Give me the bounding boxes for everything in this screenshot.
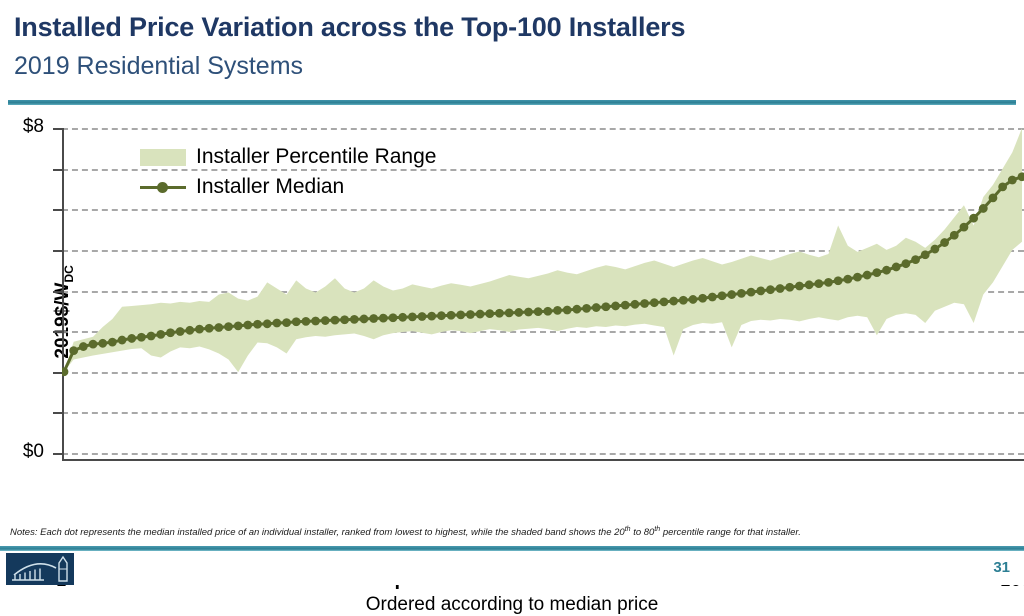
median-point	[282, 318, 291, 327]
median-point	[718, 291, 727, 300]
median-point	[950, 231, 959, 240]
median-point	[89, 340, 98, 349]
median-point	[350, 315, 359, 324]
median-point	[456, 310, 465, 319]
median-point	[960, 223, 969, 232]
notes-text-3: percentile range for that installer.	[660, 527, 801, 538]
median-point	[592, 303, 601, 312]
median-point	[272, 319, 281, 328]
median-point	[447, 311, 456, 320]
berkeley-lab-logo-icon	[6, 553, 74, 585]
median-point	[389, 313, 398, 322]
median-point	[331, 316, 340, 325]
median-point	[340, 315, 349, 324]
median-point	[360, 315, 369, 324]
median-point	[679, 296, 688, 305]
median-point	[572, 305, 581, 314]
median-point	[747, 288, 756, 297]
median-point	[311, 317, 320, 326]
slide-footer: 31	[0, 551, 1024, 585]
median-point	[931, 245, 940, 254]
median-point	[979, 204, 988, 213]
median-point	[834, 276, 843, 285]
median-point	[989, 193, 998, 202]
median-point	[398, 313, 407, 322]
median-point	[824, 278, 833, 287]
chart-legend: Installer Percentile Range Installer Med…	[140, 142, 436, 202]
median-point	[911, 255, 920, 264]
median-point	[921, 250, 930, 259]
median-point	[514, 308, 523, 317]
median-point	[602, 302, 611, 311]
legend-label-median: Installer Median	[196, 175, 344, 199]
median-point	[737, 289, 746, 298]
median-point	[166, 328, 175, 337]
median-point	[853, 273, 862, 282]
median-point	[418, 312, 427, 321]
median-point	[814, 279, 823, 288]
median-point	[156, 330, 165, 339]
median-point	[379, 314, 388, 323]
median-point	[708, 293, 717, 302]
median-point	[553, 306, 562, 315]
median-point	[137, 333, 146, 342]
median-point	[892, 263, 901, 272]
median-point	[882, 266, 891, 275]
median-point	[214, 323, 223, 332]
slide: Installed Price Variation across the Top…	[0, 0, 1024, 585]
median-point	[698, 294, 707, 303]
median-point	[79, 342, 88, 351]
chart-notes: Notes: Each dot represents the median in…	[10, 526, 1016, 538]
page-number: 31	[993, 559, 1010, 576]
median-point	[727, 290, 736, 299]
median-point	[127, 334, 136, 343]
median-point	[253, 320, 262, 329]
median-point	[466, 310, 475, 319]
chart-container: 2019$/WDC $8 $0 Installer Percentile Ran…	[0, 108, 1024, 518]
x-axis-subtitle: Ordered according to median price	[0, 594, 1024, 616]
median-point	[185, 326, 194, 335]
notes-text-1: Each dot represents the median installed…	[37, 527, 624, 538]
median-point	[302, 317, 311, 326]
median-point	[872, 268, 881, 277]
band-swatch-icon	[140, 149, 186, 166]
median-point	[611, 302, 620, 311]
median-point	[631, 300, 640, 309]
median-point	[147, 332, 156, 341]
median-point	[660, 297, 669, 306]
median-point	[1008, 176, 1017, 185]
legend-item-band: Installer Percentile Range	[140, 142, 436, 172]
median-point	[98, 339, 107, 348]
median-point	[476, 310, 485, 319]
median-point	[766, 285, 775, 294]
median-point	[524, 308, 533, 317]
legend-label-band: Installer Percentile Range	[196, 145, 436, 169]
median-point	[843, 275, 852, 284]
median-point	[621, 301, 630, 310]
median-point	[243, 321, 252, 330]
median-point	[263, 319, 272, 328]
page-title: Installed Price Variation across the Top…	[14, 12, 685, 43]
median-point	[427, 312, 436, 321]
header-divider	[8, 100, 1016, 105]
median-point	[640, 299, 649, 308]
median-point	[234, 321, 243, 330]
median-point	[582, 304, 591, 313]
median-point	[543, 307, 552, 316]
median-point	[195, 325, 204, 334]
median-point	[795, 282, 804, 291]
median-point	[292, 317, 301, 326]
plot-area: Installer Percentile Range Installer Med…	[62, 120, 1024, 461]
median-point	[108, 338, 117, 347]
legend-item-median: Installer Median	[140, 172, 436, 202]
median-point	[689, 295, 698, 304]
median-point	[485, 309, 494, 318]
median-point	[408, 313, 417, 322]
median-point	[224, 322, 233, 331]
median-point	[62, 367, 68, 376]
slide-header: Installed Price Variation across the Top…	[0, 0, 1024, 100]
page-subtitle: 2019 Residential Systems	[14, 52, 303, 81]
median-point	[776, 284, 785, 293]
median-point	[863, 271, 872, 280]
median-point	[437, 311, 446, 320]
notes-prefix: Notes:	[10, 527, 37, 538]
notes-text-2: to 80	[631, 527, 655, 538]
median-point	[785, 283, 794, 292]
median-point	[534, 307, 543, 316]
median-point	[901, 259, 910, 268]
median-point	[176, 327, 185, 336]
median-line-swatch-icon	[140, 179, 186, 196]
median-point	[756, 287, 765, 296]
median-point	[118, 336, 127, 345]
median-point	[369, 314, 378, 323]
median-point	[650, 298, 659, 307]
y-tick-label-top: $8	[0, 116, 44, 138]
median-point	[805, 280, 814, 289]
median-point	[969, 214, 978, 223]
median-point	[669, 297, 678, 306]
median-point	[563, 306, 572, 315]
median-point	[495, 309, 504, 318]
median-point	[940, 238, 949, 247]
y-tick-label-bottom: $0	[0, 441, 44, 463]
median-point	[998, 183, 1007, 192]
median-point	[505, 308, 514, 317]
median-point	[69, 346, 78, 355]
median-point	[205, 324, 214, 333]
median-point	[321, 316, 330, 325]
